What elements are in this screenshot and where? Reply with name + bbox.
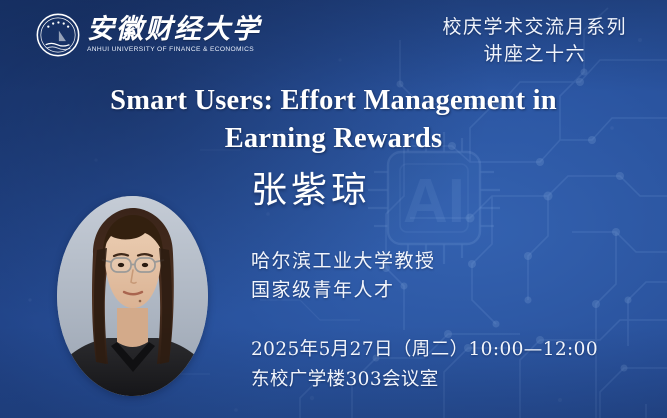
- university-logo-text: 安徽财经大学 ANHUI UNIVERSITY OF FINANCE & ECO…: [87, 16, 261, 54]
- series-caption-line1: 校庆学术交流月系列: [442, 14, 627, 41]
- university-seal-icon: [36, 13, 80, 57]
- lecture-venue: 东校广学楼303会议室: [251, 365, 598, 395]
- series-caption-line2: 讲座之十六: [442, 41, 627, 68]
- speaker-affiliation: 哈尔滨工业大学教授 国家级青年人才: [251, 247, 436, 306]
- lecture-title: Smart Users: Effort Management in Earnin…: [0, 82, 667, 158]
- speaker-affiliation-line2: 国家级青年人才: [251, 276, 436, 305]
- university-name-cn: 安徽财经大学: [87, 16, 261, 43]
- lecture-datetime: 2025年5月27日（周二）10:00—12:00: [251, 335, 598, 365]
- lecture-schedule: 2025年5月27日（周二）10:00—12:00 东校广学楼303会议室: [251, 335, 598, 395]
- lecture-title-line2: Earning Rewards: [40, 120, 627, 158]
- speaker-portrait: [57, 196, 208, 396]
- speaker-affiliation-line1: 哈尔滨工业大学教授: [251, 247, 436, 276]
- ai-chip-label: AI: [403, 167, 465, 236]
- lecture-poster: AI 安徽财经大学 ANHUI: [0, 0, 667, 418]
- speaker-portrait-image: [57, 196, 208, 396]
- speaker-name: 张紫琼: [251, 173, 371, 209]
- university-logo: 安徽财经大学 ANHUI UNIVERSITY OF FINANCE & ECO…: [36, 13, 261, 57]
- lecture-title-line1: Smart Users: Effort Management in: [40, 82, 627, 120]
- university-name-en: ANHUI UNIVERSITY OF FINANCE & ECONOMICS: [87, 47, 264, 54]
- series-caption: 校庆学术交流月系列 讲座之十六: [442, 14, 627, 68]
